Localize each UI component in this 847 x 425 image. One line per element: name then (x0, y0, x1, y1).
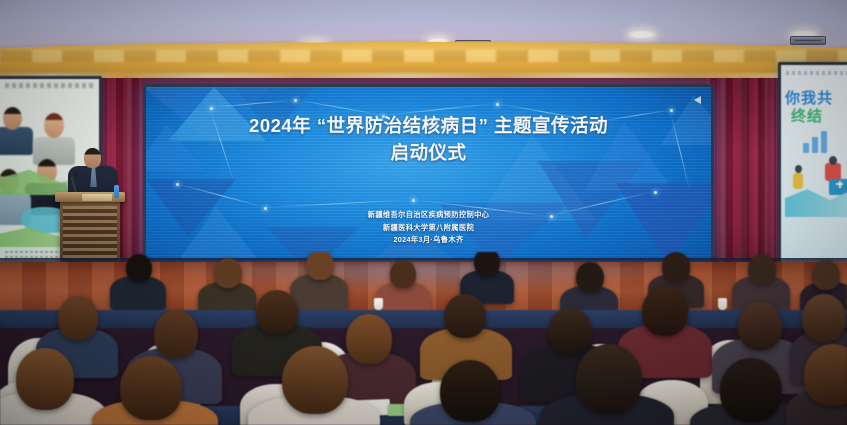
play-triangle-icon (694, 96, 701, 104)
right-panel-illustration (785, 157, 847, 217)
water-bottle (114, 185, 119, 198)
screen-subtitle-line-3: 2024年3月·乌鲁木齐 (146, 234, 711, 247)
ceiling-air-vent (790, 36, 826, 45)
left-panel-header-text (5, 83, 93, 88)
screen-subtitle-line-2: 新疆医科大学第八附属医院 (146, 222, 711, 235)
left-panel-portrait (0, 101, 33, 155)
main-led-screen: 2024年 “世界防治结核病日” 主题宣传活动 启动仪式 新疆维吾尔自治区疾病预… (143, 84, 714, 272)
paper-cup (718, 298, 727, 310)
paper-cup (374, 298, 383, 310)
ceiling-downlight (628, 30, 656, 39)
screen-title-line-2: 启动仪式 (146, 140, 711, 167)
screen-title: 2024年 “世界防治结核病日” 主题宣传活动 启动仪式 (146, 113, 711, 167)
podium-plaque (82, 194, 112, 201)
microphone-icon (73, 172, 78, 177)
screen-subtitle: 新疆维吾尔自治区疾病预防控制中心 新疆医科大学第八附属医院 2024年3月·乌鲁… (146, 209, 711, 247)
conference-hall-scene: 你我共 终结 (0, 0, 847, 425)
right-panel-header-text (786, 71, 847, 75)
right-panel-headline-green: 终结 (791, 105, 847, 126)
audience-area (0, 252, 847, 425)
audience-table (0, 310, 847, 328)
right-panel-bar-graphic (803, 131, 839, 153)
screen-title-line-1: 2024年 “世界防治结核病日” 主题宣传活动 (249, 115, 608, 136)
speaker-head (84, 148, 101, 168)
screen-subtitle-line-1: 新疆维吾尔自治区疾病预防控制中心 (146, 209, 711, 222)
